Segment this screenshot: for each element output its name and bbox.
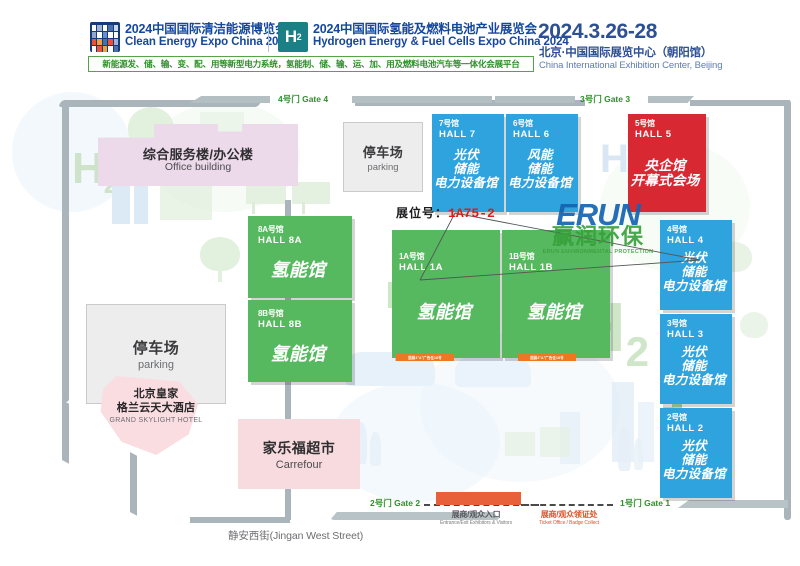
solar-panel-silhouette [540, 427, 570, 457]
gate-1-bar [678, 500, 788, 508]
hall-2-type-line3: 电力设备馆 [660, 467, 728, 481]
office-building-block[interactable]: 综合服务楼/办公楼 Office building [98, 124, 298, 186]
parking-top-label-en: parking [367, 162, 398, 173]
venue-wall-right [784, 100, 791, 520]
gate-4-bar [190, 96, 270, 103]
hall-6-type-line1: 风能 [506, 148, 574, 162]
building-silhouette [612, 382, 634, 462]
hall-2-type-line1: 光伏 [660, 439, 728, 453]
hall-2-number-en: HALL 2 [667, 423, 704, 434]
hall-1b-number-en: HALL 1B [509, 262, 553, 273]
hall-8a-number-en: HALL 8A [258, 235, 302, 246]
tree-trunk [218, 268, 222, 282]
hall-7-type-line3: 电力设备馆 [432, 176, 500, 190]
hall-3-number-en: HALL 3 [667, 329, 704, 340]
hall-1a-number-cn: 1A号馆 [399, 252, 424, 262]
clean-energy-title-cn: 2024中国国际清洁能源博览会 [125, 22, 291, 36]
hall-8a-type: 氢能馆 [248, 260, 348, 280]
venue-name-cn: 北京·中国国际展览中心（朝阳馆） [539, 44, 712, 60]
clean-energy-mosaic-icon [90, 22, 120, 52]
hall-3-type-line1: 光伏 [660, 345, 728, 359]
hall-2-type-line2: 储能 [660, 453, 728, 467]
venue-wall-left-lower2 [130, 452, 137, 516]
gate-3-bar-left [495, 96, 575, 103]
venue-wall-left [62, 102, 69, 402]
expo-tagline-banner: 新能源发、储、输、变、配、用等新型电力系统，氢能制、储、输、运、加、用及燃料电池… [88, 56, 534, 72]
hall-5-number-en: HALL 5 [635, 129, 672, 140]
gate-3-label: 3号门 Gate 3 [580, 93, 630, 105]
hall-4-number-en: HALL 4 [667, 235, 704, 246]
hall-7-number-en: HALL 7 [439, 129, 476, 140]
hall-8b-block[interactable]: 8B号馆 HALL 8B 氢能馆 [248, 300, 352, 382]
person-silhouette [618, 427, 631, 471]
hotel-label: 北京皇家 格兰云天大酒店 GRAND SKYLIGHT HOTEL [96, 388, 216, 424]
hall-6-block[interactable]: 6号馆 HALL 6 风能 储能 电力设备馆 [506, 114, 578, 212]
venue-name-en: China International Exhibition Center, B… [539, 60, 722, 71]
h2-icon-letter: H [285, 27, 297, 47]
hall-1a-block[interactable]: 1A号馆 HALL 1A 氢能馆 [392, 230, 500, 358]
hall-1a-type: 氢能馆 [392, 302, 496, 322]
hall-3-type-line3: 电力设备馆 [660, 373, 728, 387]
gate-1-dashed-path [521, 504, 613, 506]
gate-4-bar-right [352, 96, 492, 103]
hall-6-type-line3: 电力设备馆 [506, 176, 574, 190]
hall-3-block[interactable]: 3号馆 HALL 3 光伏 储能 电力设备馆 [660, 314, 732, 404]
h2-icon-sub: 2 [297, 32, 302, 42]
office-building-label-en: Office building [98, 161, 298, 173]
tree-silhouette [740, 312, 768, 338]
parking-left-label-en: parking [138, 359, 174, 371]
booth-number-value: 1A75-2 [448, 206, 495, 221]
booth-number-callout: 展位号：1A75-2 [396, 204, 495, 222]
hall-1b-block[interactable]: 1B号馆 HALL 1B 氢能馆 [502, 230, 610, 358]
hall-8a-number-cn: 8A号馆 [258, 225, 283, 235]
hall-2-number-cn: 2号馆 [667, 413, 687, 423]
hydrogen-title-en: Hydrogen Energy & Fuel Cells Expo China … [313, 36, 569, 49]
person-silhouette [634, 438, 643, 470]
expo-tagline-text: 新能源发、储、输、变、配、用等新型电力系统，氢能制、储、输、运、加、用及燃料电池… [102, 58, 519, 70]
ad-strip-left-text: 国展3°A°广告位18号 [408, 355, 442, 360]
hall-5-type-line1: 央企馆 [628, 158, 702, 173]
gate-1-label: 1号门 Gate 1 [620, 497, 670, 509]
hydrogen-title-cn: 2024中国国际氢能及燃料电池产业展览会 [313, 22, 569, 36]
gate-3-bar-right [648, 96, 694, 103]
carrefour-label-cn: 家乐福超市 [263, 438, 336, 458]
venue-wall-bottom-left [190, 517, 290, 523]
hall-8b-number-cn: 8B号馆 [258, 309, 283, 319]
hall-3-type-line2: 储能 [660, 359, 728, 373]
hall-7-number-cn: 7号馆 [439, 119, 459, 129]
hall-7-type-line1: 光伏 [432, 148, 500, 162]
building-silhouette [638, 402, 654, 462]
parking-left-label-cn: 停车场 [133, 337, 180, 358]
building-silhouette [560, 412, 580, 464]
hall-4-block[interactable]: 4号馆 HALL 4 光伏 储能 电力设备馆 [660, 220, 732, 310]
badge-office-caption[interactable]: 展商/观众领证处 Ticket Office / Badge Collect [509, 510, 629, 526]
street-label: 静安西街(Jingan West Street) [228, 528, 363, 543]
tree-silhouette [200, 237, 240, 271]
solar-panel-silhouette [505, 432, 535, 456]
hall-1b-number-cn: 1B号馆 [509, 252, 534, 262]
hotel-label-en: GRAND SKYLIGHT HOTEL [96, 417, 216, 424]
hall-6-type-line2: 储能 [506, 162, 574, 176]
hall-4-type-line1: 光伏 [660, 251, 728, 265]
hall-4-number-cn: 4号馆 [667, 225, 687, 235]
gate-4-label: 4号门 Gate 4 [278, 93, 328, 105]
badge-office-cn: 展商/观众领证处 [509, 510, 629, 520]
hall-1b-type: 氢能馆 [502, 302, 606, 322]
hall-4-type-line3: 电力设备馆 [660, 279, 728, 293]
page-header: 2024中国国际清洁能源博览会 Clean Energy Expo China … [0, 0, 800, 82]
carrefour-label-en: Carrefour [276, 459, 322, 471]
venue-wall-left-lower [62, 400, 69, 464]
hall-6-number-en: HALL 6 [513, 129, 550, 140]
hall-8b-number-en: HALL 8B [258, 319, 302, 330]
hotel-label-cn-line1: 北京皇家 [96, 388, 216, 402]
gate-2-label: 2号门 Gate 2 [370, 497, 420, 509]
floor-plan-map: H2 H2 H2 [0, 82, 800, 566]
panel-leg [302, 202, 305, 214]
clean-energy-title-en: Clean Energy Expo China 2024 [125, 36, 291, 49]
hall-6-number-cn: 6号馆 [513, 119, 533, 129]
hall-3-number-cn: 3号馆 [667, 319, 687, 329]
parking-top-label-cn: 停车场 [363, 142, 404, 161]
badge-office-en: Ticket Office / Badge Collect [509, 520, 629, 526]
hydrogen-expo-logo: H2 2024中国国际氢能及燃料电池产业展览会 Hydrogen Energy … [278, 22, 569, 52]
h2-square-icon: H2 [278, 22, 308, 52]
ad-strip-right[interactable]: 国展3°A°广告位18号 [518, 354, 576, 361]
panel-leg [252, 202, 255, 214]
exhibition-floor-plan-page: 2024中国国际清洁能源博览会 Clean Energy Expo China … [0, 0, 800, 566]
booth-number-label: 展位号： [396, 206, 448, 220]
hall-8a-block[interactable]: 8A号馆 HALL 8A 氢能馆 [248, 216, 352, 298]
clean-energy-expo-logo: 2024中国国际清洁能源博览会 Clean Energy Expo China … [90, 22, 291, 52]
venue-wall-top-right [690, 100, 790, 106]
hall-5-type-line2: 开幕式会场 [628, 173, 702, 188]
car-silhouette [455, 357, 531, 387]
ad-strip-left[interactable]: 国展3°A°广告位18号 [396, 354, 454, 361]
badge-office-bar [436, 492, 521, 505]
hotel-label-cn-line2: 格兰云天大酒店 [96, 402, 216, 416]
carrefour-block[interactable]: 家乐福超市 Carrefour [238, 419, 360, 489]
hall-7-type-line2: 储能 [432, 162, 500, 176]
hall-7-block[interactable]: 7号馆 HALL 7 光伏 储能 电力设备馆 [432, 114, 504, 212]
hall-1a-number-en: HALL 1A [399, 262, 443, 273]
person-silhouette [370, 432, 381, 466]
header-divider [268, 24, 269, 52]
parking-top-block[interactable]: 停车场 parking [343, 122, 423, 192]
hall-4-type-line2: 储能 [660, 265, 728, 279]
hall-5-block[interactable]: 5号馆 HALL 5 央企馆 开幕式会场 [628, 114, 706, 212]
hall-2-block[interactable]: 2号馆 HALL 2 光伏 储能 电力设备馆 [660, 408, 732, 498]
event-date: 2024.3.26-28 [538, 20, 657, 44]
hall-5-number-cn: 5号馆 [635, 119, 655, 129]
ad-strip-right-text: 国展3°A°广告位18号 [530, 355, 564, 360]
hall-8b-type: 氢能馆 [248, 344, 348, 364]
